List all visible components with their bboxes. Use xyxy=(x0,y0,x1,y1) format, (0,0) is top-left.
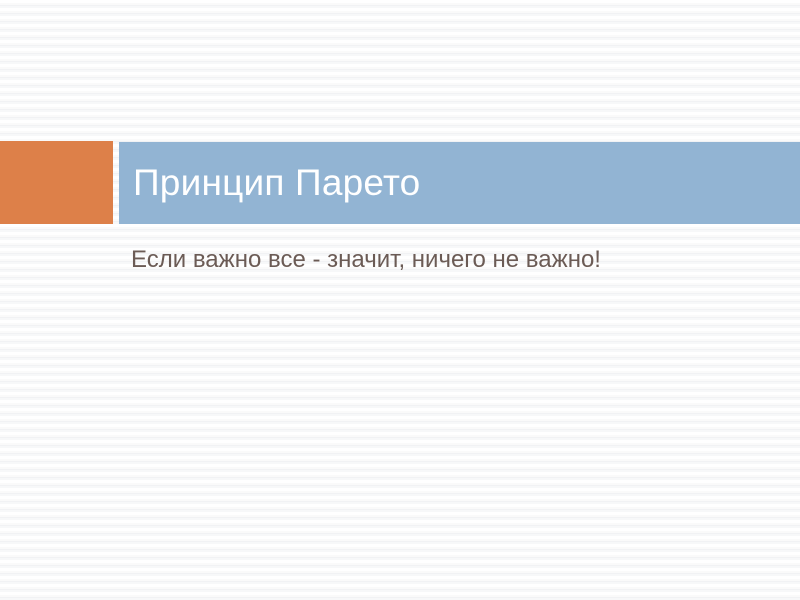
presentation-slide: Принцип Парето Если важно все - значит, … xyxy=(0,0,800,600)
slide-background-texture xyxy=(0,0,800,600)
slide-subtitle: Если важно все - значит, ничего не важно… xyxy=(131,244,771,276)
title-band: Принцип Парето xyxy=(119,142,800,224)
slide-title: Принцип Парето xyxy=(133,142,420,224)
title-accent-block xyxy=(0,141,113,224)
